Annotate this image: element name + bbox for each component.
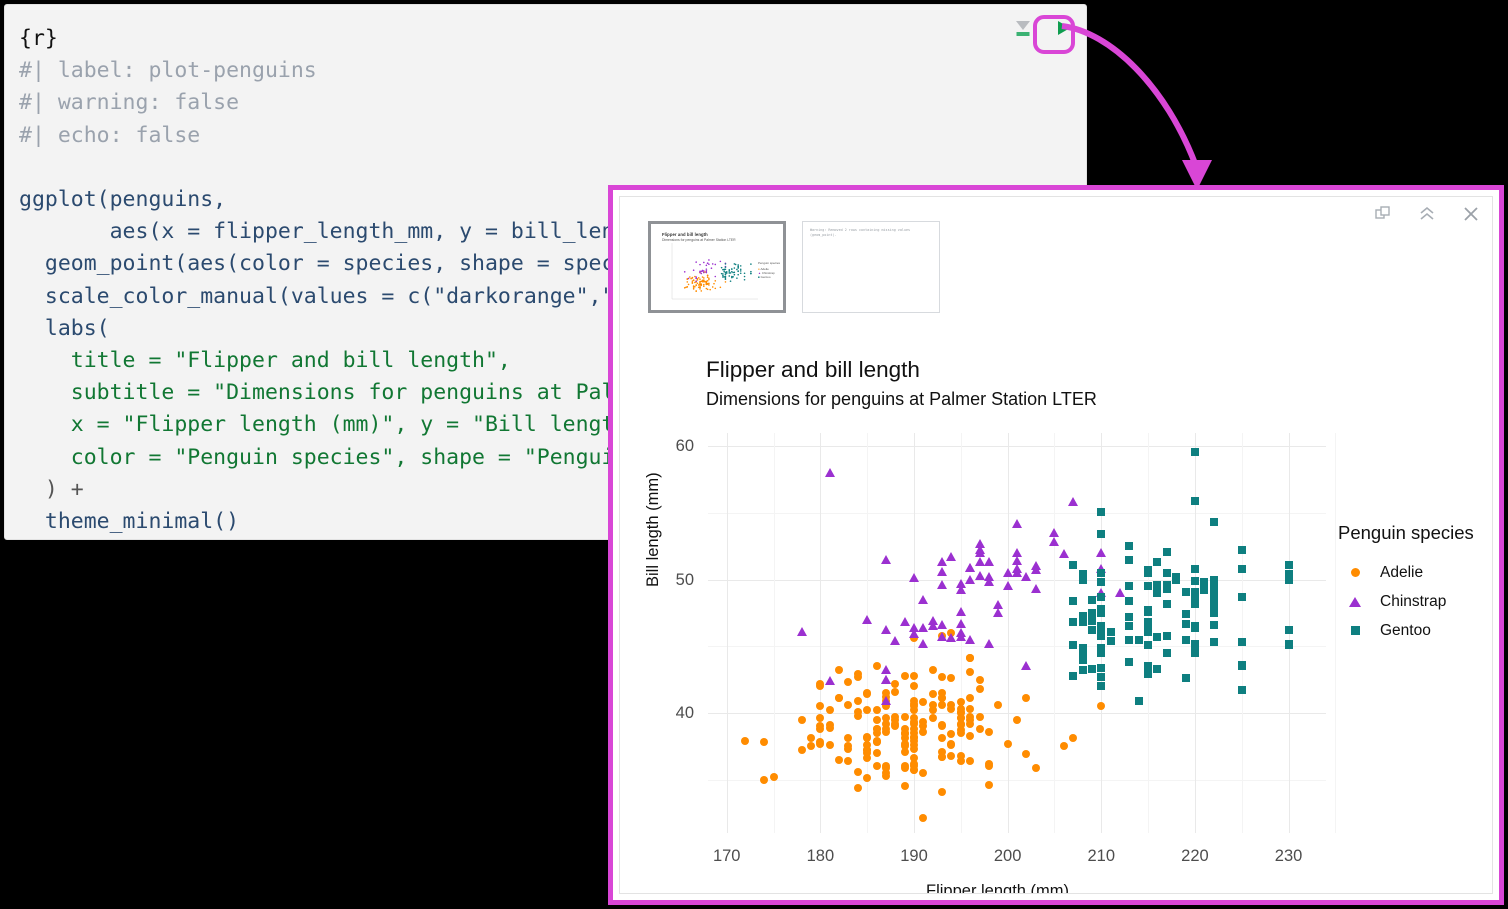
data-point-chinstrap <box>946 552 956 561</box>
data-point-gentoo <box>1210 518 1218 526</box>
data-point-gentoo <box>1125 542 1133 550</box>
data-point-adelie <box>798 746 806 754</box>
data-point-gentoo <box>1125 582 1133 590</box>
chart-subtitle: Dimensions for penguins at Palmer Statio… <box>706 389 1097 410</box>
data-point-gentoo <box>1144 641 1152 649</box>
data-point-adelie <box>910 766 918 774</box>
data-point-gentoo <box>1191 588 1199 596</box>
data-point-adelie <box>816 682 824 690</box>
data-point-adelie <box>957 752 965 760</box>
data-point-adelie <box>807 742 815 750</box>
plot-output-panel: Flipper and bill length Dimensions for p… <box>608 185 1504 905</box>
gridline-minor <box>708 780 1326 781</box>
data-point-gentoo <box>1238 686 1246 694</box>
data-point-adelie <box>938 734 946 742</box>
code-line-4: labs( <box>19 316 110 341</box>
data-point-adelie <box>910 720 918 728</box>
data-point-adelie <box>816 714 824 722</box>
data-point-gentoo <box>1079 576 1087 584</box>
data-point-chinstrap <box>1012 556 1022 565</box>
data-point-gentoo <box>1097 593 1105 601</box>
data-point-adelie <box>882 764 890 772</box>
data-point-gentoo <box>1088 665 1096 673</box>
gridline-major <box>708 580 1326 581</box>
data-point-gentoo <box>1097 530 1105 538</box>
code-line-5: title = "Flipper and bill length", <box>19 348 511 373</box>
data-point-chinstrap <box>956 619 966 628</box>
data-point-adelie <box>844 757 852 765</box>
data-point-adelie <box>919 814 927 822</box>
code-line-9: ) + <box>19 477 84 502</box>
data-point-gentoo <box>1163 649 1171 657</box>
data-point-chinstrap <box>1021 661 1031 670</box>
data-point-gentoo <box>1163 600 1171 608</box>
code-directive-2: #| echo: false <box>19 123 200 148</box>
data-point-chinstrap <box>1003 581 1013 590</box>
data-point-adelie <box>985 728 993 736</box>
legend-key-triangle-icon <box>1338 597 1372 607</box>
plot-wrap: Bill length (mm) Flipper length (mm) 405… <box>636 427 1493 894</box>
data-point-gentoo <box>1107 628 1115 636</box>
data-point-adelie <box>966 654 974 662</box>
data-point-chinstrap <box>918 639 928 648</box>
code-line-10: theme_minimal() <box>19 509 239 534</box>
data-point-adelie <box>770 773 778 781</box>
data-point-chinstrap <box>881 555 891 564</box>
data-point-adelie <box>947 752 955 760</box>
data-point-adelie <box>938 701 946 709</box>
gridline-minor <box>1242 433 1243 833</box>
data-point-adelie <box>966 705 974 713</box>
data-point-gentoo <box>1182 610 1190 618</box>
data-point-chinstrap <box>993 600 1003 609</box>
data-point-adelie <box>938 722 946 730</box>
data-point-adelie <box>882 720 890 728</box>
data-point-gentoo <box>1135 636 1143 644</box>
data-point-adelie <box>844 701 852 709</box>
data-point-chinstrap <box>900 617 910 626</box>
data-point-gentoo <box>1144 662 1152 670</box>
data-point-gentoo <box>1163 548 1171 556</box>
data-point-chinstrap <box>825 468 835 477</box>
legend-key-square-icon <box>1338 626 1372 635</box>
data-point-gentoo <box>1079 618 1087 626</box>
data-point-gentoo <box>1125 597 1133 605</box>
data-point-adelie <box>919 769 927 777</box>
legend-label-chinstrap: Chinstrap <box>1380 593 1446 611</box>
data-point-gentoo <box>1210 584 1218 592</box>
data-point-gentoo <box>1285 561 1293 569</box>
data-point-adelie <box>854 697 862 705</box>
data-point-adelie <box>854 768 862 776</box>
data-point-adelie <box>1032 764 1040 772</box>
data-point-adelie <box>901 734 909 742</box>
data-point-adelie <box>901 748 909 756</box>
data-point-adelie <box>910 672 918 680</box>
data-point-gentoo <box>1069 561 1077 569</box>
data-point-gentoo <box>1097 682 1105 690</box>
x-tick-label: 230 <box>1259 847 1319 866</box>
gridline-major <box>1195 433 1196 833</box>
data-point-gentoo <box>1069 672 1077 680</box>
data-point-adelie <box>873 737 881 745</box>
data-point-gentoo <box>1097 622 1105 630</box>
data-point-chinstrap <box>1049 537 1059 546</box>
data-point-adelie <box>966 668 974 676</box>
data-point-chinstrap <box>909 573 919 582</box>
data-point-gentoo <box>1125 556 1133 564</box>
data-point-chinstrap <box>1068 497 1078 506</box>
data-point-adelie <box>854 784 862 792</box>
x-tick-label: 190 <box>884 847 944 866</box>
data-point-adelie <box>844 678 852 686</box>
data-point-chinstrap <box>1021 572 1031 581</box>
legend: Penguin species Adelie Chinstrap Gentoo <box>1338 522 1493 645</box>
data-point-adelie <box>891 720 899 728</box>
data-point-chinstrap <box>881 696 891 705</box>
data-point-adelie <box>929 690 937 698</box>
plot-output-panel-inner: Flipper and bill length Dimensions for p… <box>619 196 1493 894</box>
data-point-adelie <box>994 701 1002 709</box>
data-point-adelie <box>816 740 824 748</box>
data-point-gentoo <box>1153 558 1161 566</box>
data-point-adelie <box>966 757 974 765</box>
data-point-gentoo <box>1191 497 1199 505</box>
legend-label-adelie: Adelie <box>1380 564 1423 582</box>
data-point-adelie <box>891 688 899 696</box>
data-point-chinstrap <box>1059 549 1069 558</box>
data-point-gentoo <box>1285 640 1293 648</box>
data-point-chinstrap <box>984 572 994 581</box>
data-point-chinstrap <box>890 636 900 645</box>
data-point-adelie <box>938 673 946 681</box>
data-point-adelie <box>976 685 984 693</box>
chevron-up-icon[interactable] <box>1416 203 1438 225</box>
data-point-gentoo <box>1191 624 1199 632</box>
data-point-adelie <box>1022 750 1030 758</box>
data-point-adelie <box>873 706 881 714</box>
gridline-major <box>727 433 728 833</box>
popout-icon[interactable] <box>1372 203 1394 225</box>
chart-title: Flipper and bill length <box>706 357 920 383</box>
data-point-gentoo <box>1200 586 1208 594</box>
thumbnail-legend-gentoo: Gentoo <box>761 275 771 279</box>
data-point-adelie <box>985 762 993 770</box>
code-lang-header: {r} <box>19 26 58 51</box>
gridline-major <box>820 433 821 833</box>
data-point-adelie <box>947 730 955 738</box>
data-point-gentoo <box>1182 674 1190 682</box>
data-point-adelie <box>835 694 843 702</box>
data-point-gentoo <box>1097 609 1105 617</box>
data-point-adelie <box>976 713 984 721</box>
data-point-gentoo <box>1153 633 1161 641</box>
data-point-adelie <box>957 729 965 737</box>
data-point-adelie <box>873 729 881 737</box>
data-point-adelie <box>873 716 881 724</box>
thumbnail-warning-body: Warning: Removed 2 rows containing missi… <box>810 228 933 238</box>
data-point-chinstrap <box>881 625 891 634</box>
y-tick-label: 50 <box>634 571 694 590</box>
data-point-adelie <box>910 741 918 749</box>
data-point-adelie <box>816 702 824 710</box>
data-point-gentoo <box>1191 565 1199 573</box>
data-point-gentoo <box>1191 577 1199 585</box>
data-point-gentoo <box>1238 593 1246 601</box>
data-point-gentoo <box>1079 656 1087 664</box>
data-point-adelie <box>947 674 955 682</box>
data-point-gentoo <box>1144 566 1152 574</box>
data-point-gentoo <box>1125 622 1133 630</box>
data-point-gentoo <box>1210 601 1218 609</box>
data-point-gentoo <box>1191 649 1199 657</box>
gridline-major <box>708 713 1326 714</box>
data-point-gentoo <box>1153 665 1161 673</box>
data-point-gentoo <box>1172 573 1180 581</box>
chart: Flipper and bill length Dimensions for p… <box>636 337 1484 885</box>
data-point-adelie <box>957 721 965 729</box>
data-point-chinstrap <box>797 627 807 636</box>
data-point-adelie <box>1097 702 1105 710</box>
data-point-gentoo <box>1125 636 1133 644</box>
data-point-gentoo <box>1097 664 1105 672</box>
data-point-adelie <box>901 672 909 680</box>
data-point-chinstrap <box>881 675 891 684</box>
data-point-gentoo <box>1097 508 1105 516</box>
data-point-gentoo <box>1088 613 1096 621</box>
data-point-adelie <box>910 729 918 737</box>
data-point-gentoo <box>1069 597 1077 605</box>
data-point-gentoo <box>1182 620 1190 628</box>
data-point-adelie <box>901 782 909 790</box>
x-tick-label: 180 <box>790 847 850 866</box>
data-point-gentoo <box>1069 641 1077 649</box>
legend-label-gentoo: Gentoo <box>1380 622 1431 640</box>
data-point-gentoo <box>1144 626 1152 634</box>
data-point-chinstrap <box>1031 584 1041 593</box>
data-point-adelie <box>873 749 881 757</box>
data-point-gentoo <box>1238 565 1246 573</box>
data-point-adelie <box>910 682 918 690</box>
data-point-gentoo <box>1079 644 1087 652</box>
thumbnail-legend-title: Penguin species <box>758 261 780 265</box>
data-point-chinstrap <box>918 595 928 604</box>
data-point-gentoo <box>1144 606 1152 614</box>
code-directive-0: #| label: plot-penguins <box>19 58 317 83</box>
data-point-adelie <box>919 698 927 706</box>
x-tick-label: 200 <box>978 847 1038 866</box>
data-point-adelie <box>760 738 768 746</box>
data-point-adelie <box>938 748 946 756</box>
data-point-adelie <box>1013 716 1021 724</box>
gridline-minor <box>708 646 1326 647</box>
data-point-adelie <box>873 662 881 670</box>
data-point-adelie <box>798 716 806 724</box>
data-point-gentoo <box>1182 636 1190 644</box>
data-point-gentoo <box>1210 638 1218 646</box>
data-point-adelie <box>835 666 843 674</box>
data-point-adelie <box>854 708 862 716</box>
data-point-adelie <box>1069 734 1077 742</box>
data-point-chinstrap <box>956 632 966 641</box>
output-thumbnail-strip: Flipper and bill length Dimensions for p… <box>648 221 940 313</box>
data-point-adelie <box>760 776 768 784</box>
data-point-gentoo <box>1097 578 1105 586</box>
data-point-adelie <box>1004 740 1012 748</box>
data-point-gentoo <box>1238 546 1246 554</box>
data-point-chinstrap <box>1096 548 1106 557</box>
data-point-gentoo <box>1069 618 1077 626</box>
data-point-adelie <box>929 714 937 722</box>
x-axis-label: Flipper length (mm) <box>926 882 1069 894</box>
data-point-adelie <box>863 774 871 782</box>
data-point-adelie <box>1022 694 1030 702</box>
data-point-adelie <box>901 762 909 770</box>
legend-item-adelie[interactable]: Adelie <box>1338 558 1493 587</box>
data-point-chinstrap <box>984 557 994 566</box>
thumbnail-plot[interactable]: Flipper and bill length Dimensions for p… <box>648 221 786 313</box>
gridline-minor <box>1335 433 1336 833</box>
data-point-chinstrap <box>881 665 891 674</box>
x-tick-label: 220 <box>1165 847 1225 866</box>
data-point-chinstrap <box>1049 528 1059 537</box>
data-point-adelie <box>844 734 852 742</box>
x-tick-label: 210 <box>1071 847 1131 866</box>
data-point-gentoo <box>1097 569 1105 577</box>
data-point-chinstrap <box>928 616 938 625</box>
data-point-gentoo <box>1191 640 1199 648</box>
data-point-gentoo <box>1135 697 1143 705</box>
data-point-gentoo <box>1153 589 1161 597</box>
data-point-gentoo <box>1125 613 1133 621</box>
data-point-chinstrap <box>1115 588 1125 597</box>
x-tick-label: 170 <box>697 847 757 866</box>
thumbnail-plot-preview: Flipper and bill length Dimensions for p… <box>654 227 780 307</box>
data-point-gentoo <box>1163 581 1171 589</box>
legend-title: Penguin species <box>1338 522 1493 544</box>
data-point-chinstrap <box>825 676 835 685</box>
data-point-gentoo <box>1238 662 1246 670</box>
data-point-chinstrap <box>937 567 947 576</box>
data-point-gentoo <box>1088 596 1096 604</box>
data-point-gentoo <box>1163 569 1171 577</box>
data-point-adelie <box>901 713 909 721</box>
thumbnail-warning-text[interactable]: Warning: Removed 2 rows containing missi… <box>802 221 940 313</box>
legend-item-chinstrap[interactable]: Chinstrap <box>1338 587 1493 616</box>
data-point-gentoo <box>1153 581 1161 589</box>
gridline-minor <box>708 513 1326 514</box>
data-point-chinstrap <box>937 620 947 629</box>
data-point-gentoo <box>1144 582 1152 590</box>
data-point-chinstrap <box>993 608 1003 617</box>
data-point-gentoo <box>1097 673 1105 681</box>
data-point-gentoo <box>1182 588 1190 596</box>
data-point-adelie <box>966 716 974 724</box>
gridline-major <box>1008 433 1009 833</box>
data-point-gentoo <box>1285 570 1293 578</box>
data-point-adelie <box>807 734 815 742</box>
gridline-minor <box>867 433 868 833</box>
code-line-0: ggplot(penguins, <box>19 187 226 212</box>
data-point-gentoo <box>1210 621 1218 629</box>
gridline-minor <box>1054 433 1055 833</box>
legend-key-circle-icon <box>1338 568 1372 577</box>
y-tick-label: 40 <box>634 704 694 723</box>
data-point-gentoo <box>1210 609 1218 617</box>
data-point-gentoo <box>1079 666 1087 674</box>
data-point-gentoo <box>1200 578 1208 586</box>
data-point-chinstrap <box>956 579 966 588</box>
data-point-gentoo <box>1088 626 1096 634</box>
code-line-2: geom_point(aes(color = species, shape = … <box>19 251 705 276</box>
data-point-adelie <box>741 737 749 745</box>
data-point-adelie <box>976 676 984 684</box>
plot-panel-toolbar <box>1372 203 1482 225</box>
data-point-adelie <box>826 741 834 749</box>
data-point-chinstrap <box>965 563 975 572</box>
code-directive-1: #| warning: false <box>19 90 239 115</box>
data-point-gentoo <box>1191 448 1199 456</box>
data-point-adelie <box>966 732 974 740</box>
data-point-gentoo <box>1191 596 1199 604</box>
data-point-adelie <box>976 725 984 733</box>
plot-panel-area: 405060170180190200210220230 <box>708 433 1326 833</box>
data-point-adelie <box>929 666 937 674</box>
data-point-gentoo <box>1238 638 1246 646</box>
gridline-major <box>708 446 1326 447</box>
data-point-gentoo <box>1210 576 1218 584</box>
data-point-chinstrap <box>862 615 872 624</box>
data-point-adelie <box>873 762 881 770</box>
data-point-gentoo <box>1285 626 1293 634</box>
data-point-chinstrap <box>984 639 994 648</box>
y-tick-label: 60 <box>634 437 694 456</box>
data-point-chinstrap <box>1031 565 1041 574</box>
data-point-adelie <box>835 756 843 764</box>
data-point-adelie <box>938 788 946 796</box>
close-icon[interactable] <box>1460 203 1482 225</box>
data-point-chinstrap <box>1012 519 1022 528</box>
data-point-chinstrap <box>937 580 947 589</box>
data-point-gentoo <box>1144 670 1152 678</box>
data-point-adelie <box>891 680 899 688</box>
thumbnail-legend: Penguin species ● Adelie ▲ Chinstrap ■ G… <box>758 261 780 279</box>
data-point-adelie <box>985 781 993 789</box>
data-point-adelie <box>826 724 834 732</box>
data-point-gentoo <box>1125 658 1133 666</box>
data-point-gentoo <box>1107 637 1115 645</box>
data-point-adelie <box>1060 742 1068 750</box>
legend-item-gentoo[interactable]: Gentoo <box>1338 616 1493 645</box>
data-point-adelie <box>966 694 974 702</box>
data-point-gentoo <box>1210 592 1218 600</box>
data-point-gentoo <box>1097 649 1105 657</box>
data-point-chinstrap <box>975 545 985 554</box>
data-point-chinstrap <box>965 635 975 644</box>
data-point-gentoo <box>1163 632 1171 640</box>
data-point-chinstrap <box>956 607 966 616</box>
